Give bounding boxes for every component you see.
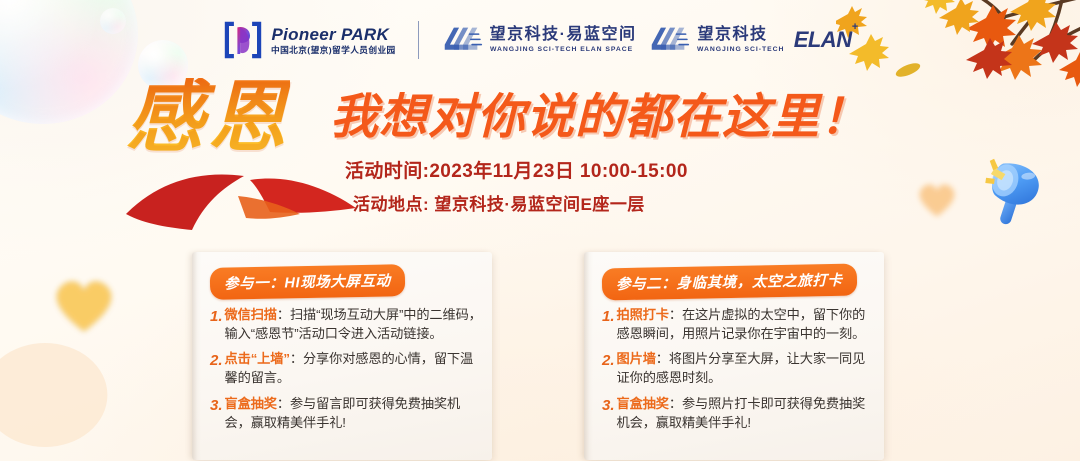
- activity-card-two-steps: 1. 拍照打卡：在这片虚拟的太空中，留下你的感恩瞬间，用照片记录你在宇宙中的一刻…: [596, 306, 874, 439]
- step-body: 盲盒抽奖：参与照片打卡即可获得免费抽奖机会，赢取精美伴手礼!: [617, 395, 874, 432]
- activity-card-one-steps: 1. 微信扫描：扫描“现场互动大屏”中的二维码，输入“感恩节”活动口令进入活动链…: [204, 306, 482, 439]
- step-number: 3.: [204, 395, 225, 416]
- elan-wordmark-superscript: +: [852, 21, 858, 33]
- step-number: 1.: [204, 306, 225, 327]
- activity-card-two: 参与二：身临其境，太空之旅打卡 1. 拍照打卡：在这片虚拟的太空中，留下你的感恩…: [584, 252, 884, 460]
- brush-title: 感恩: [126, 78, 290, 156]
- wangjing-elan-space-name-cn: 望京科技·易蓝空间: [490, 27, 637, 43]
- step-body: 盲盒抽奖：参与留言即可获得免费抽奖机会，赢取精美伴手礼!: [225, 395, 482, 432]
- step-number: 2.: [596, 350, 617, 371]
- list-item: 1. 拍照打卡：在这片虚拟的太空中，留下你的感恩瞬间，用照片记录你在宇宙中的一刻…: [596, 306, 874, 343]
- list-item: 3. 盲盒抽奖：参与留言即可获得免费抽奖机会，赢取精美伴手礼!: [204, 395, 482, 432]
- list-item: 2. 点击“上墙”：分享你对感恩的心情，留下温馨的留言。: [204, 350, 482, 387]
- logo-pioneer-park: Pioneer PARK 中国北京(望京)留学人员创业园: [222, 19, 393, 61]
- step-number: 2.: [204, 350, 225, 371]
- step-body: 点击“上墙”：分享你对感恩的心情，留下温馨的留言。: [225, 350, 482, 387]
- wangjing-sci-tech-name-cn: 望京科技: [697, 27, 780, 43]
- event-meta: 活动时间:2023年11月23日 10:00-15:00 活动地点: 望京科技·…: [345, 158, 688, 217]
- elan-wordmark-text: ELAN: [794, 27, 852, 52]
- list-item: 3. 盲盒抽奖：参与照片打卡即可获得免费抽奖机会，赢取精美伴手礼!: [596, 395, 874, 432]
- step-keyword: 盲盒抽奖: [225, 396, 277, 411]
- step-keyword: 拍照打卡: [617, 307, 669, 322]
- headline-main: 我想对你说的都在这里！: [330, 94, 869, 142]
- list-item: 1. 微信扫描：扫描“现场互动大屏”中的二维码，输入“感恩节”活动口令进入活动链…: [204, 306, 482, 343]
- wangjing-layers-mark-icon: [650, 25, 690, 55]
- step-keyword: 微信扫描: [225, 307, 277, 322]
- step-body: 微信扫描：扫描“现场互动大屏”中的二维码，输入“感恩节”活动口令进入活动链接。: [225, 306, 482, 343]
- pioneer-park-name-cn: 中国北京(望京)留学人员创业园: [271, 46, 396, 55]
- pioneer-park-logo-mark-icon: [222, 19, 264, 61]
- step-keyword: 图片墙: [617, 351, 656, 366]
- activity-card-one: 参与一：HI现场大屏互动 1. 微信扫描：扫描“现场互动大屏”中的二维码，输入“…: [192, 252, 492, 460]
- logo-wangjing-elan-plus: 望京科技 WANGJING SCI-TECH ELAN+: [650, 25, 857, 55]
- activity-card-two-title: 参与二：身临其境，太空之旅打卡: [602, 264, 857, 301]
- step-body: 图片墙：将图片分享至大屏，让大家一同见证你的感恩时刻。: [617, 350, 874, 387]
- promo-poster: Pioneer PARK 中国北京(望京)留学人员创业园 望京科技·易蓝空间 W…: [0, 0, 1080, 461]
- step-body: 拍照打卡：在这片虚拟的太空中，留下你的感恩瞬间，用照片记录你在宇宙中的一刻。: [617, 306, 874, 343]
- wangjing-elan-space-name-en: WANGJING SCI-TECH ELAN SPACE: [490, 47, 644, 54]
- step-keyword: 点击“上墙”: [225, 351, 290, 366]
- heart-shape-yellow-icon: [48, 268, 120, 340]
- logo-row: Pioneer PARK 中国北京(望京)留学人员创业园 望京科技·易蓝空间 W…: [0, 13, 1080, 67]
- logo-divider: [418, 21, 419, 59]
- list-item: 2. 图片墙：将图片分享至大屏，让大家一同见证你的感恩时刻。: [596, 350, 874, 387]
- step-number: 3.: [596, 395, 617, 416]
- activity-card-one-title: 参与一：HI现场大屏互动: [210, 264, 405, 300]
- pioneer-park-name-en: Pioneer PARK: [271, 26, 393, 43]
- event-place: 活动地点: 望京科技·易蓝空间E座一层: [345, 192, 688, 218]
- step-number: 1.: [596, 306, 617, 327]
- soft-blob-decoration: [0, 330, 120, 460]
- elan-wordmark: ELAN+: [794, 27, 858, 53]
- wangjing-sci-tech-name-en: WANGJING SCI-TECH: [697, 47, 784, 54]
- step-keyword: 盲盒抽奖: [617, 396, 669, 411]
- wangjing-layers-mark-icon: [443, 25, 483, 55]
- logo-wangjing-elan-space: 望京科技·易蓝空间 WANGJING SCI-TECH ELAN SPACE: [443, 25, 637, 55]
- red-ribbon-swoosh-icon: [118, 152, 378, 234]
- event-time: 活动时间:2023年11月23日 10:00-15:00: [345, 158, 688, 187]
- heart-shape-orange-icon: [914, 176, 960, 222]
